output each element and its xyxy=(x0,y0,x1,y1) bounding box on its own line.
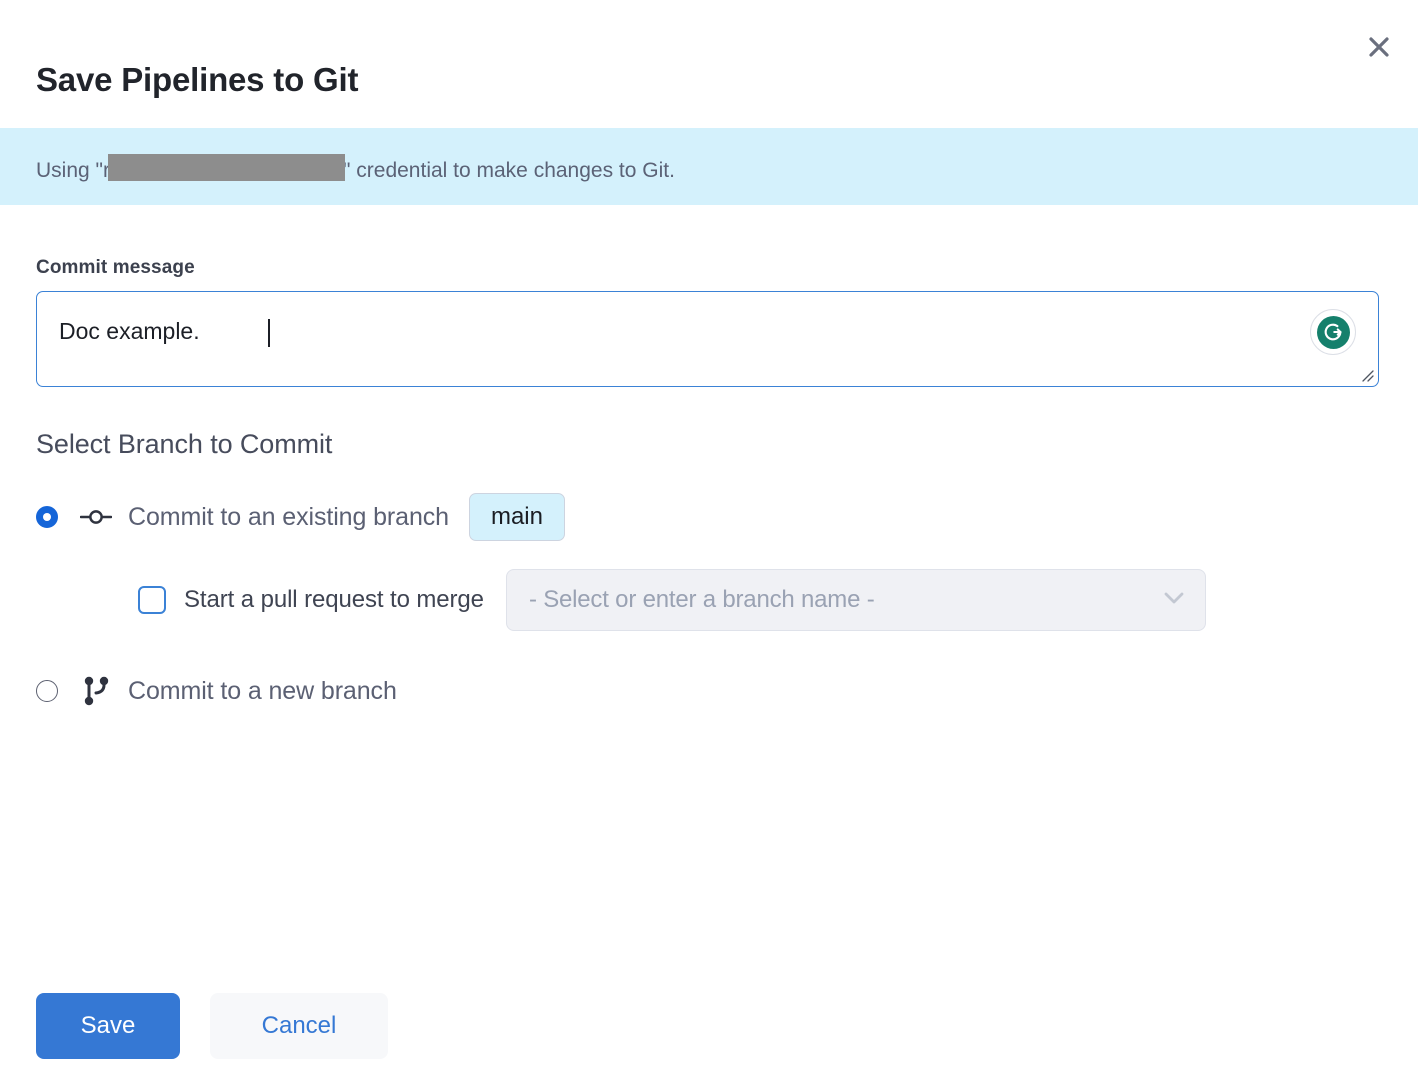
branch-section-heading: Select Branch to Commit xyxy=(36,429,1382,460)
git-commit-icon xyxy=(80,507,112,527)
pull-request-row: Start a pull request to merge - Select o… xyxy=(138,569,1382,631)
radio-row-existing-branch[interactable]: Commit to an existing branch main xyxy=(36,493,1382,541)
branch-chip-main[interactable]: main xyxy=(469,493,565,541)
commit-message-input[interactable] xyxy=(37,292,1378,386)
banner-text-after: " credential to make changes to Git. xyxy=(343,159,675,183)
commit-message-label: Commit message xyxy=(36,257,1382,279)
radio-new-branch[interactable] xyxy=(36,680,58,702)
credential-info-banner: Using "r" credential to make changes to … xyxy=(0,128,1418,205)
close-icon xyxy=(1366,34,1392,60)
close-dialog-button[interactable] xyxy=(1356,24,1402,70)
radio-row-new-branch[interactable]: Commit to a new branch xyxy=(36,675,1382,707)
banner-text-before: Using "r xyxy=(36,159,110,183)
git-branch-icon xyxy=(80,675,112,707)
credential-info-text: Using "r" credential to make changes to … xyxy=(36,150,675,183)
existing-branch-label: Commit to an existing branch xyxy=(128,503,449,532)
pull-request-branch-select-placeholder: - Select or enter a branch name - xyxy=(529,586,1161,614)
dialog-footer: Save Cancel xyxy=(36,993,388,1059)
pull-request-label: Start a pull request to merge xyxy=(184,586,484,614)
grammarly-glyph xyxy=(1317,316,1350,349)
cancel-button[interactable]: Cancel xyxy=(210,993,388,1059)
page-title: Save Pipelines to Git xyxy=(0,0,1418,98)
save-button[interactable]: Save xyxy=(36,993,180,1059)
text-caret xyxy=(268,319,270,347)
commit-message-field[interactable] xyxy=(36,291,1379,387)
new-branch-label: Commit to a new branch xyxy=(128,677,397,706)
redacted-credential-block xyxy=(108,154,345,181)
chevron-down-icon xyxy=(1161,590,1187,611)
pull-request-checkbox[interactable] xyxy=(138,586,166,614)
grammarly-icon[interactable] xyxy=(1310,309,1356,355)
radio-existing-branch[interactable] xyxy=(36,506,58,528)
textarea-resize-handle[interactable] xyxy=(1358,366,1374,382)
pull-request-branch-select[interactable]: - Select or enter a branch name - xyxy=(506,569,1206,631)
dialog-body: Commit message Select Branch to Commit xyxy=(0,257,1418,707)
